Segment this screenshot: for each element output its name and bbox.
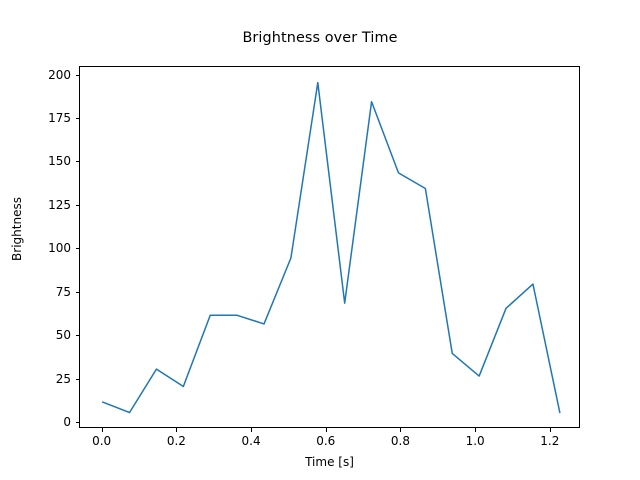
chart-title: Brightness over Time xyxy=(0,30,640,46)
data-line-series xyxy=(80,67,581,429)
x-tick-label: 0.6 xyxy=(296,435,356,447)
x-tick-label: 0.8 xyxy=(370,435,430,447)
x-tick-label: 0.4 xyxy=(221,435,281,447)
y-tick-label: 25 xyxy=(11,373,71,385)
matplotlib-figure: Brightness over Time Brightness Time [s]… xyxy=(0,0,640,480)
x-tick-label: 0.2 xyxy=(146,435,206,447)
y-tick-label: 200 xyxy=(11,69,71,81)
y-tick-label: 125 xyxy=(11,199,71,211)
plot-area xyxy=(79,66,580,428)
x-axis-label: Time [s] xyxy=(79,455,580,469)
y-tick-label: 75 xyxy=(11,286,71,298)
x-tick-label: 1.2 xyxy=(520,435,580,447)
y-tick-label: 50 xyxy=(11,329,71,341)
y-tick-label: 100 xyxy=(11,242,71,254)
y-tick-label: 0 xyxy=(11,416,71,428)
y-tick-label: 175 xyxy=(11,112,71,124)
x-tick-label: 1.0 xyxy=(445,435,505,447)
x-tick-label: 0.0 xyxy=(72,435,132,447)
y-tick-label: 150 xyxy=(11,155,71,167)
series-polyline xyxy=(103,83,560,413)
